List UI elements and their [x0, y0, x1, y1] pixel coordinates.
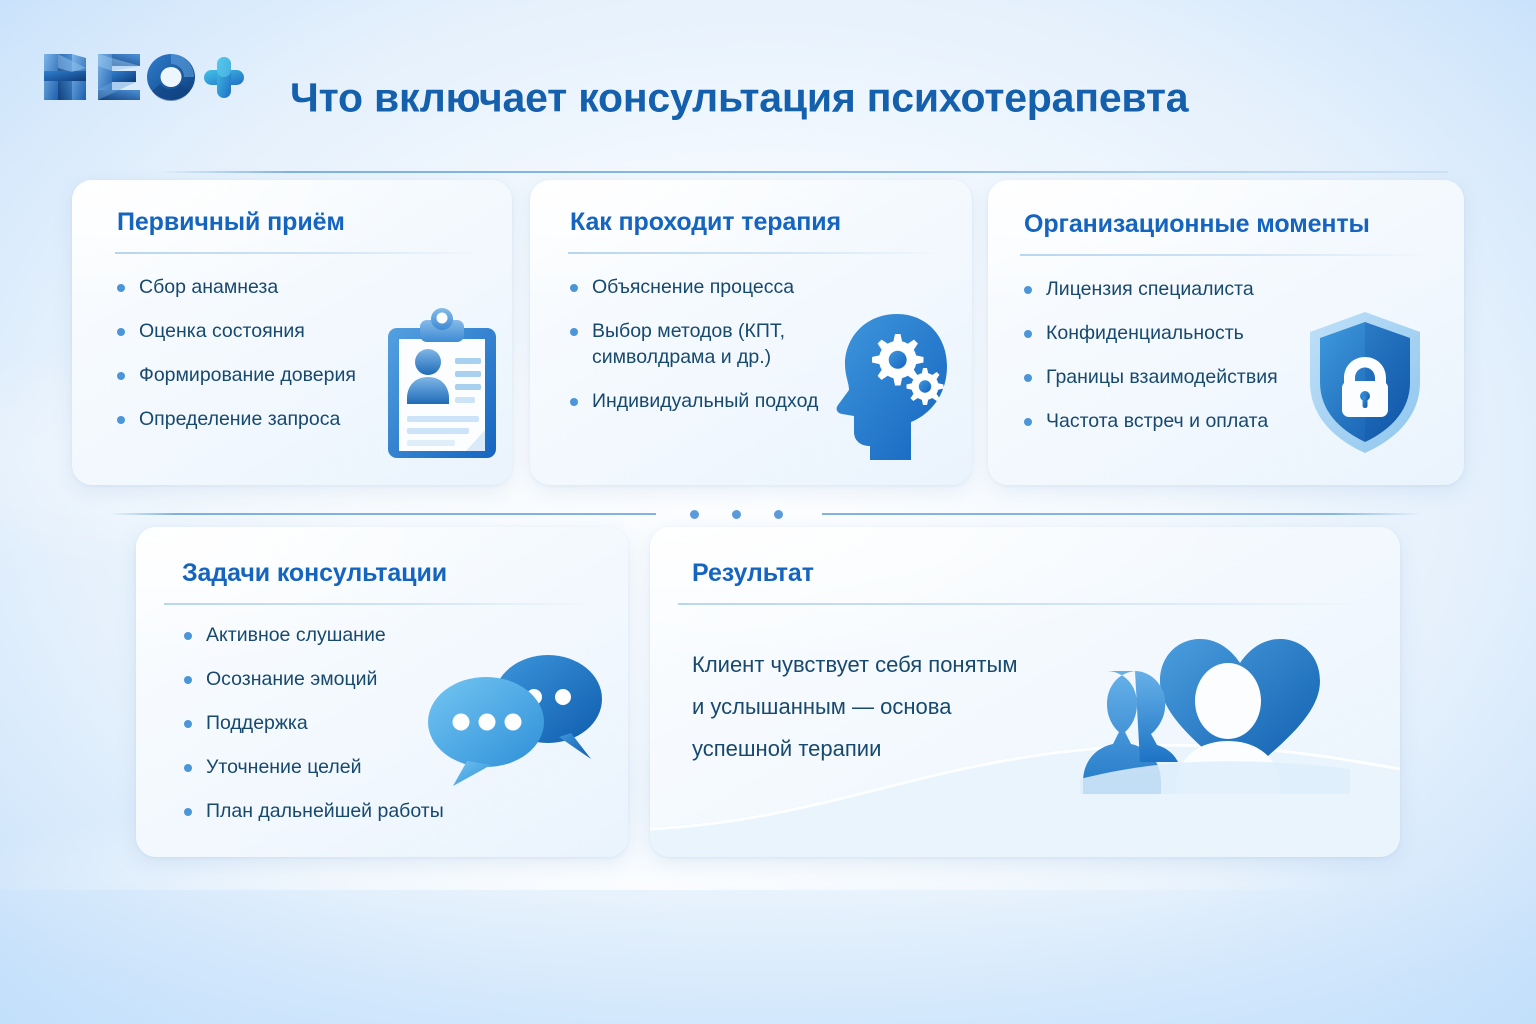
card-how-therapy-works[interactable]: Как проходит терапия Объяснение процесса… — [530, 180, 972, 485]
list-item: Индивидуальный подход — [567, 389, 847, 414]
clipboard-profile-icon — [382, 308, 502, 468]
card-consultation-goals[interactable]: Задачи консультации Активное слушание Ос… — [136, 527, 628, 857]
card-heading: Организационные моменты — [1024, 210, 1370, 239]
list-item: Лицензия специалиста — [1021, 277, 1341, 302]
list-item: Объяснение процесса — [567, 275, 847, 300]
divider-dot — [690, 510, 699, 519]
list-item: Частота встреч и оплата — [1021, 409, 1341, 434]
card-heading-divider — [1020, 254, 1430, 256]
result-line: Клиент чувствует себя понятым — [692, 644, 1122, 686]
card-organizational[interactable]: Организационные моменты Лицензия специал… — [988, 180, 1464, 485]
divider-dot — [774, 510, 783, 519]
card-bullet-list: Объяснение процесса Выбор методов (КПТ, … — [567, 275, 847, 433]
card-heading-divider — [568, 252, 946, 254]
neo-plus-logo — [40, 46, 245, 108]
header-divider — [160, 171, 1448, 173]
divider-dot — [732, 510, 741, 519]
card-heading: Как проходит терапия — [570, 208, 841, 237]
chat-bubbles-icon — [421, 637, 611, 792]
card-heading-divider — [115, 252, 485, 254]
card-heading: Первичный приём — [117, 208, 345, 237]
section-divider — [110, 508, 1422, 520]
card-heading: Результат — [692, 559, 814, 588]
divider-line-left — [110, 513, 656, 515]
background-wave-bottom — [0, 880, 1536, 1024]
list-item: Конфиденциальность — [1021, 321, 1341, 346]
heart-people-icon — [1080, 619, 1350, 799]
divider-line-right — [822, 513, 1422, 515]
list-item: Выбор методов (КПТ, символдрама и др.) — [567, 319, 847, 370]
page-header: Что включает консультация психотерапевта — [40, 42, 1440, 142]
card-heading-divider — [678, 603, 1368, 605]
card-bullet-list: Лицензия специалиста Конфиденциальность … — [1021, 277, 1341, 453]
card-heading-divider — [164, 603, 596, 605]
shield-lock-icon — [1300, 308, 1430, 463]
card-primary-intake[interactable]: Первичный приём Сбор анамнеза Оценка сос… — [72, 180, 512, 485]
card-result[interactable]: Результат Клиент чувствует себя понятым … — [650, 527, 1400, 857]
page-title: Что включает консультация психотерапевта — [290, 75, 1188, 122]
list-item: Сбор анамнеза — [114, 275, 444, 300]
list-item: План дальнейшей работы — [181, 799, 481, 824]
list-item: Границы взаимодействия — [1021, 365, 1341, 390]
head-gears-icon — [835, 310, 955, 465]
card-heading: Задачи консультации — [182, 559, 447, 588]
